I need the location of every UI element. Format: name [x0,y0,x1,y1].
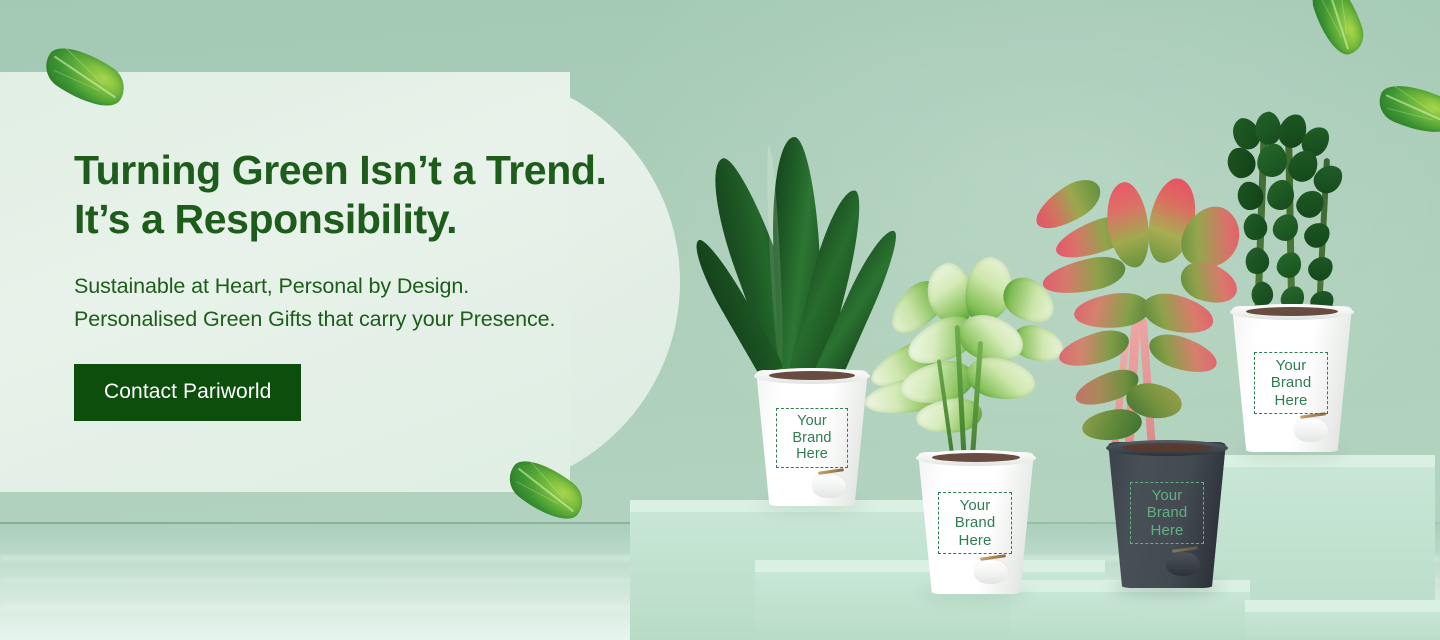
pot-water-spout [812,474,846,498]
brand-line-2: Brand [1147,504,1188,521]
pot-soil [1122,443,1212,452]
pot-soil [769,371,854,380]
brand-placeholder-snake-plant: Your Brand Here [776,408,848,468]
brand-line-1: Your [1276,357,1307,374]
brand-line-2: Brand [792,430,831,447]
pot-water-spout [1294,418,1328,442]
pot-soil [1246,307,1337,316]
pot-water-spout [1166,552,1200,576]
brand-line-2: Brand [1271,374,1312,391]
brand-line-3: Here [796,446,828,463]
pot-water-spout [974,560,1008,584]
page-title: Turning Green Isn’t a Trend. It’s a Resp… [74,146,724,244]
brand-placeholder-red-aglaonema: Your Brand Here [1130,482,1204,544]
hero-banner: Your Brand Here Your Brand Here [0,0,1440,640]
pot-speckled-aglaonema[interactable]: Your Brand Here [918,452,1034,598]
hero-copy-block: Turning Green Isn’t a Trend. It’s a Resp… [74,146,724,421]
plant-red-aglaonema [1030,178,1240,478]
contact-pariworld-button[interactable]: Contact Pariworld [74,364,301,421]
brand-line-3: Here [959,532,992,549]
brand-placeholder-speckled-aglaonema: Your Brand Here [938,492,1012,554]
brand-line-3: Here [1151,522,1184,539]
podium-right-low [1245,600,1440,640]
brand-line-1: Your [1152,487,1183,504]
hero-subheading: Sustainable at Heart, Personal by Design… [74,270,724,335]
brand-line-3: Here [1275,392,1308,409]
podium-front-face [1010,592,1250,640]
pot-soil [932,453,1020,462]
pot-snake-plant[interactable]: Your Brand Here [756,370,868,510]
brand-line-2: Brand [955,514,996,531]
pot-red-aglaonema[interactable]: Your Brand Here [1108,442,1226,592]
podium-front-face [1245,612,1440,640]
brand-line-1: Your [960,497,991,514]
brand-line-1: Your [797,413,827,430]
pot-zz-plant[interactable]: Your Brand Here [1232,306,1352,456]
brand-placeholder-zz-plant: Your Brand Here [1254,352,1328,414]
